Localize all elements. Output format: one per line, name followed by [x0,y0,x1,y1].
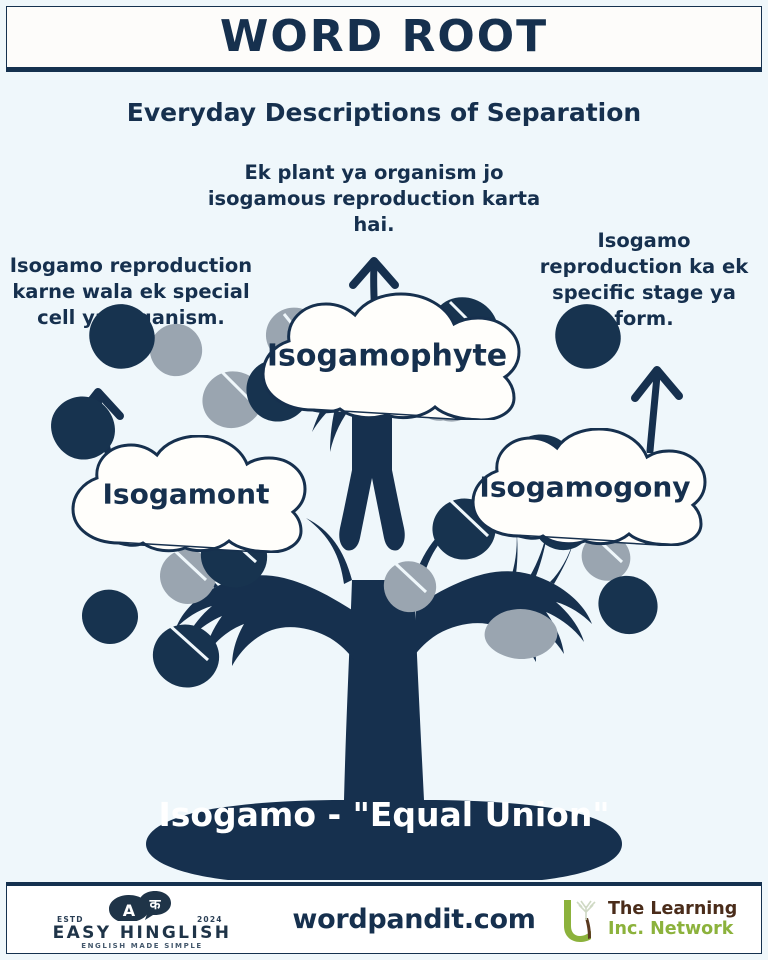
page-title: WORD ROOT [220,15,548,59]
bubble-isogamont[interactable]: Isogamont [57,435,315,553]
learning-network-logo: The Learning Inc. Network [551,892,761,948]
infographic-page: WORD ROOT Everyday Descriptions of Separ… [0,0,768,960]
tree-trunk [306,512,472,800]
cloud-shape-left [57,435,315,553]
caption-top: Ek plant ya organism jo isogamous reprod… [194,160,554,238]
bubble-isogamogony[interactable]: Isogamogony [455,428,715,546]
bubble-devanagari-glyph: क [149,897,162,913]
header-box: WORD ROOT [6,6,762,72]
bubble-latin-glyph: A [123,901,136,920]
logo-brand-name: EASY HINGLISH [37,923,247,943]
learning-network-line1: The Learning [608,900,737,920]
bubble-isogamophyte[interactable]: Isogamophyte [243,292,531,420]
footer-bar: क A ESTD 2024 EASY HINGLISH ENGLISH MADE… [6,882,762,954]
learning-network-line2: Inc. Network [608,920,737,940]
root-banner-label: Isogamo - "Equal Union" [134,796,634,834]
cloud-shape-right [455,428,715,546]
easy-hinglish-logo: क A ESTD 2024 EASY HINGLISH ENGLISH MADE… [7,889,277,951]
website-url[interactable]: wordpandit.com [277,904,551,935]
cloud-shape-center [243,292,531,420]
u-tree-icon [558,894,604,946]
subtitle: Everyday Descriptions of Separation [0,98,768,127]
logo-tagline: ENGLISH MADE SIMPLE [37,942,247,950]
